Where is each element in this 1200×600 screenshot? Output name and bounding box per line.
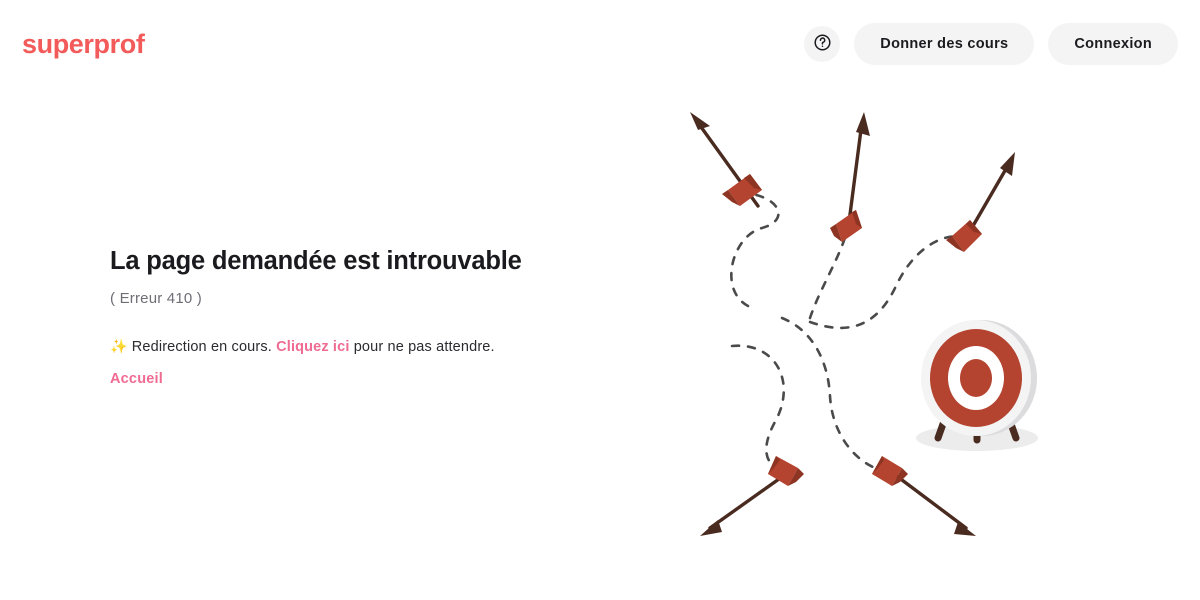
trail-5 [782,318,888,472]
site-header: superprof Donner des cours Connexion [0,0,1200,88]
trail-3 [810,236,970,328]
redirect-message: ✨ Redirection en cours. Cliquez ici pour… [110,337,670,357]
archery-target [916,320,1038,451]
arrow-down-right [872,456,976,536]
header-actions: Donner des cours Connexion [804,23,1178,65]
error-content: La page demandée est introuvable ( Erreu… [110,246,670,388]
redirect-text-after: pour ne pas attendre. [354,339,495,355]
redirect-text-before: Redirection en cours. [132,339,272,355]
donner-des-cours-button[interactable]: Donner des cours [854,23,1034,65]
cliquez-ici-link[interactable]: Cliquez ici [276,339,349,355]
question-mark-circle-icon [813,33,832,55]
arrow-up-center [830,112,870,242]
error-page: superprof Donner des cours Connexion La … [0,0,1200,600]
connexion-button[interactable]: Connexion [1048,23,1178,65]
help-button[interactable] [804,26,840,62]
archery-illustration [670,90,1070,540]
error-code: ( Erreur 410 ) [110,290,670,307]
trail-1 [731,194,778,306]
target-bullseye [960,359,992,397]
trail-4 [732,346,792,472]
arrow-up-left [690,112,762,206]
accueil-link[interactable]: Accueil [110,371,163,387]
arrow-up-right [946,152,1015,252]
sparkles-icon: ✨ [110,338,128,354]
arrow-down-left [700,456,804,536]
page-title: La page demandée est introuvable [110,246,670,278]
superprof-logo[interactable]: superprof [22,31,144,58]
